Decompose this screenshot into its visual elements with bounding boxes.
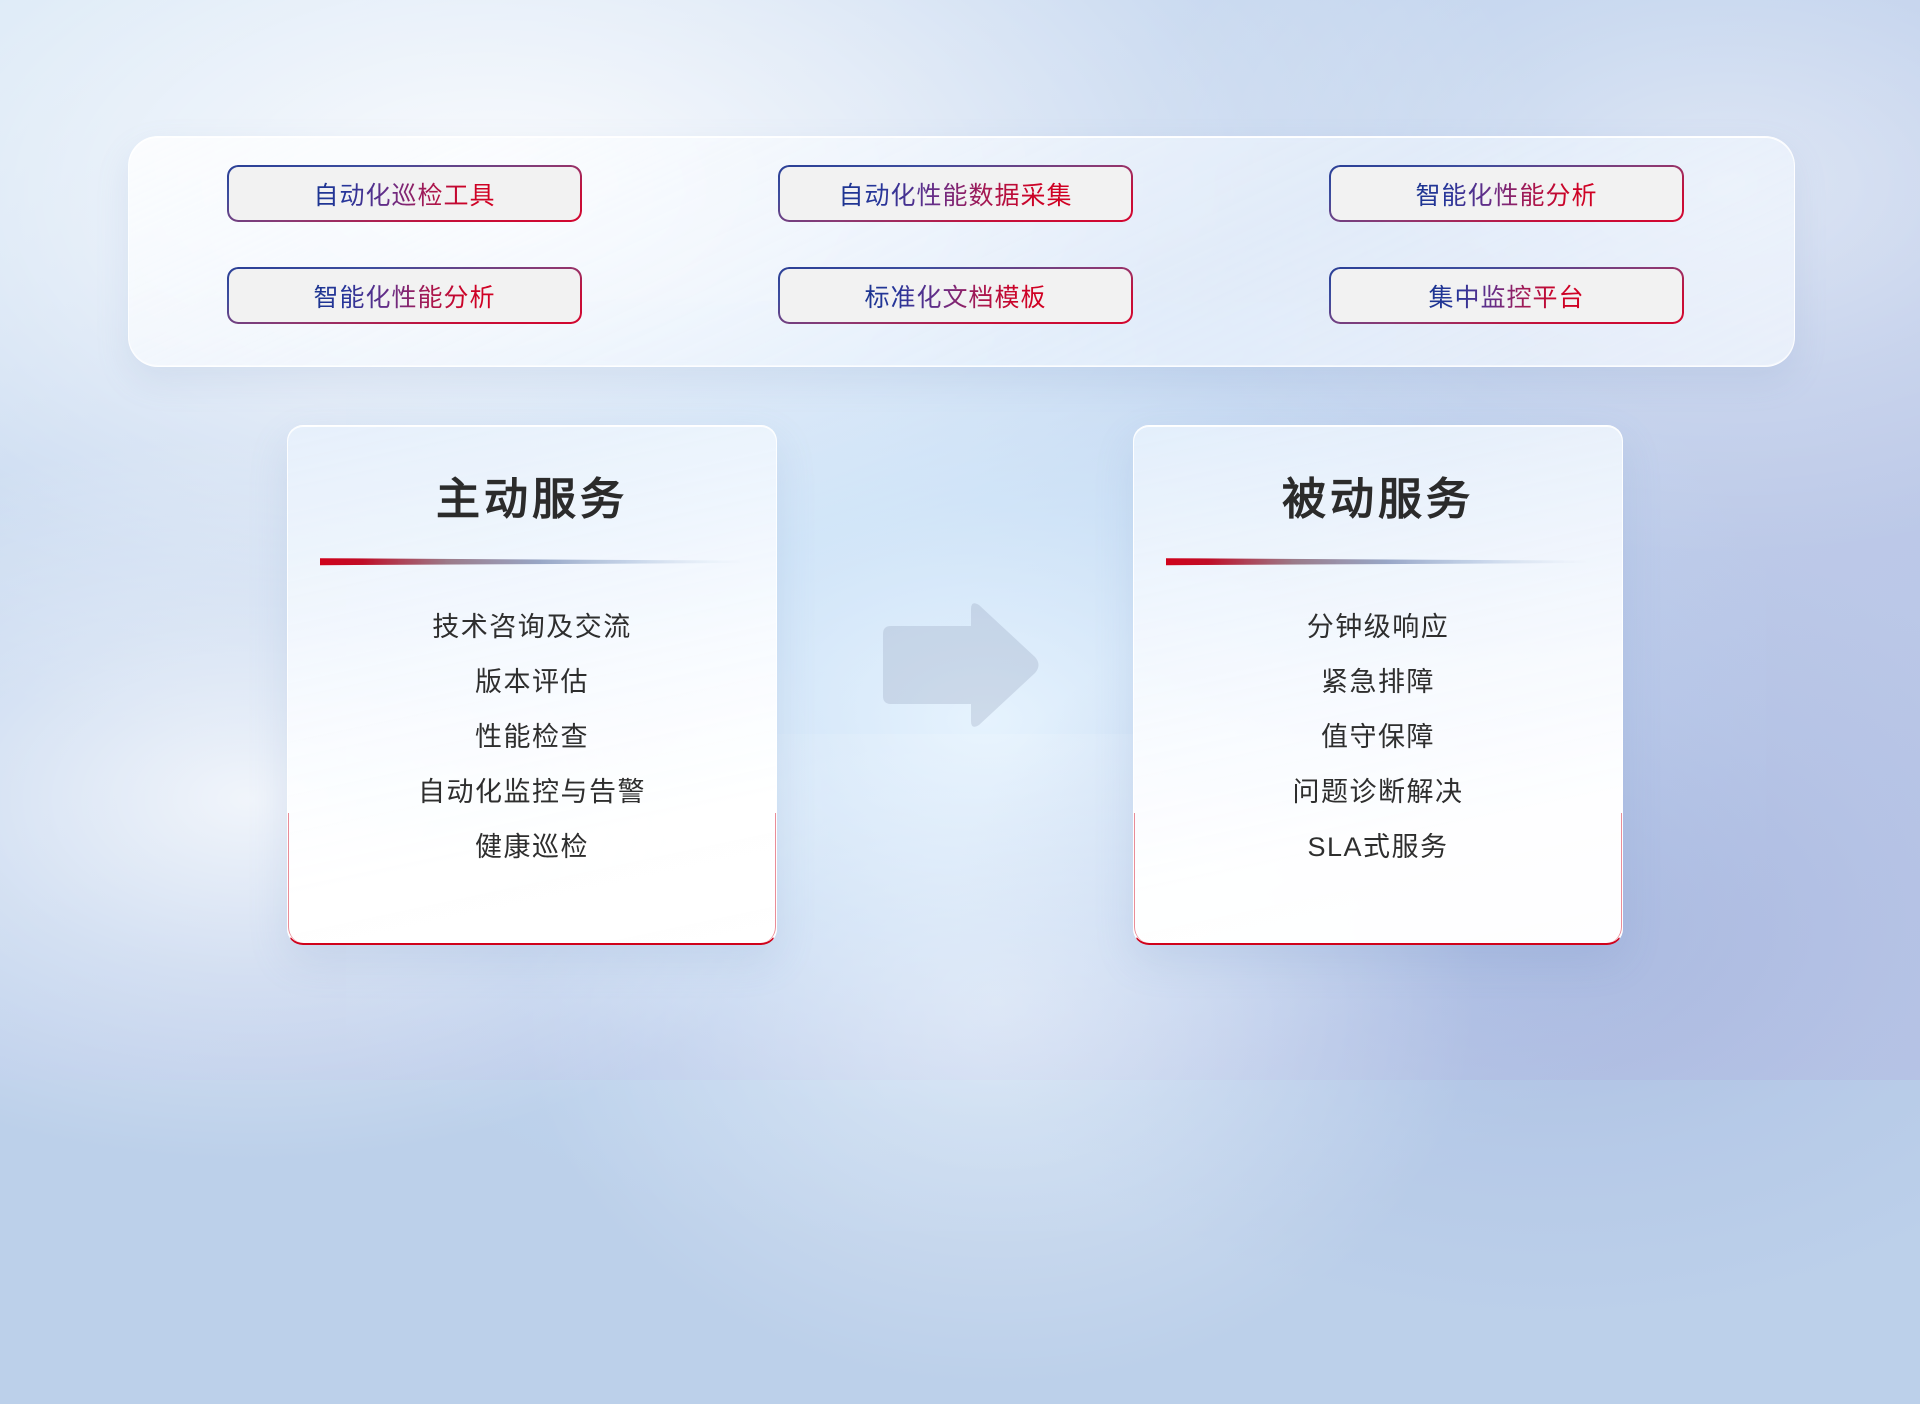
arrow-shape [875, 600, 1040, 730]
capability-tag-label: 集中监控平台 [1428, 278, 1584, 314]
service-item: 问题诊断解决 [1134, 765, 1622, 820]
card-title-divider [320, 556, 745, 566]
capability-tag-2[interactable]: 自动化性能数据采集 [778, 165, 1133, 222]
capability-tag-1[interactable]: 自动化巡检工具 [227, 165, 582, 222]
capability-tag-5[interactable]: 标准化文档模板 [778, 267, 1133, 324]
service-item: 版本评估 [288, 655, 776, 710]
card-title: 主动服务 [288, 426, 776, 527]
service-item: 自动化监控与告警 [288, 765, 776, 820]
gradient-divider-icon [1166, 556, 1591, 566]
service-item: 值守保障 [1134, 710, 1622, 765]
service-item: 健康巡检 [288, 820, 776, 875]
service-card-reactive: 被动服务 分钟级响应 紧急排障 值守保障 问题诊断解决 SLA式服务 [1133, 425, 1623, 945]
flow-arrow-right-icon [875, 600, 1040, 730]
service-item: 分钟级响应 [1134, 600, 1622, 655]
service-item-list: 分钟级响应 紧急排障 值守保障 问题诊断解决 SLA式服务 [1134, 566, 1622, 875]
capability-tags-panel: 自动化巡检工具 自动化性能数据采集 智能化性能分析 智能化性能分析 标准化文档模… [128, 136, 1795, 367]
service-item: 紧急排障 [1134, 655, 1622, 710]
service-item: 性能检查 [288, 710, 776, 765]
capability-tag-label: 自动化性能数据采集 [838, 176, 1072, 212]
capability-tag-label: 智能化性能分析 [1415, 176, 1597, 212]
gradient-divider-icon [320, 556, 745, 566]
capability-tag-label: 自动化巡检工具 [313, 176, 495, 212]
service-item-list: 技术咨询及交流 版本评估 性能检查 自动化监控与告警 健康巡检 [288, 566, 776, 875]
service-card-proactive: 主动服务 技术咨询及交流 版本评估 性能检查 自动化监控与告警 健康巡检 [287, 425, 777, 945]
capability-tag-3[interactable]: 智能化性能分析 [1329, 165, 1684, 222]
service-item: 技术咨询及交流 [288, 600, 776, 655]
card-title-divider [1166, 556, 1591, 566]
capability-tag-grid: 自动化巡检工具 自动化性能数据采集 智能化性能分析 智能化性能分析 标准化文档模… [227, 165, 1684, 324]
capability-tag-label: 标准化文档模板 [864, 278, 1046, 314]
service-item: SLA式服务 [1134, 820, 1622, 875]
capability-tag-4[interactable]: 智能化性能分析 [227, 267, 582, 324]
capability-tag-6[interactable]: 集中监控平台 [1329, 267, 1684, 324]
card-title: 被动服务 [1134, 426, 1622, 527]
capability-tag-label: 智能化性能分析 [313, 278, 495, 314]
